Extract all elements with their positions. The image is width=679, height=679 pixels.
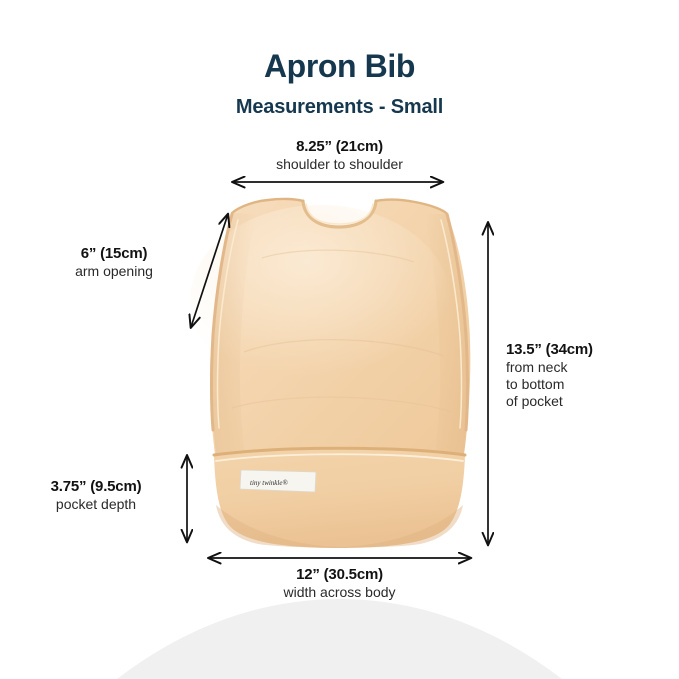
page-subtitle: Measurements - Small [0, 96, 679, 119]
measurement-label-pocket-depth: 3.75” (9.5cm) pocket depth [20, 478, 172, 513]
measurement-value-neck-to-pocket: 13.5” (34cm) [506, 341, 666, 359]
measurement-desc-shoulder-to-shoulder: shoulder to shoulder [0, 156, 679, 173]
measurement-diagram-canvas: tiny twinkle® Apron Bib Measurements - S… [0, 0, 679, 679]
arm-opening-arrow [191, 214, 228, 327]
measurement-desc-neck-to-pocket-line-1: from neck [506, 359, 666, 376]
measurement-label-neck-to-pocket: 13.5” (34cm) from neck to bottom of pock… [506, 341, 666, 411]
measurement-value-pocket-depth: 3.75” (9.5cm) [20, 478, 172, 496]
measurement-desc-neck-to-pocket-line-2: to bottom [506, 376, 666, 393]
measurement-desc-pocket-depth: pocket depth [20, 496, 172, 513]
measurement-label-width-across-body: 12” (30.5cm) width across body [0, 566, 679, 601]
measurement-label-arm-opening: 6” (15cm) arm opening [44, 245, 184, 280]
page-title: Apron Bib [0, 48, 679, 85]
measurement-desc-neck-to-pocket-line-3: of pocket [506, 393, 666, 410]
measurement-value-arm-opening: 6” (15cm) [44, 245, 184, 263]
measurement-desc-arm-opening: arm opening [44, 263, 184, 280]
measurement-value-shoulder-to-shoulder: 8.25” (21cm) [0, 138, 679, 156]
measurement-value-width-across-body: 12” (30.5cm) [0, 566, 679, 584]
measurement-desc-width-across-body: width across body [0, 584, 679, 601]
measurement-label-shoulder-to-shoulder: 8.25” (21cm) shoulder to shoulder [0, 138, 679, 173]
